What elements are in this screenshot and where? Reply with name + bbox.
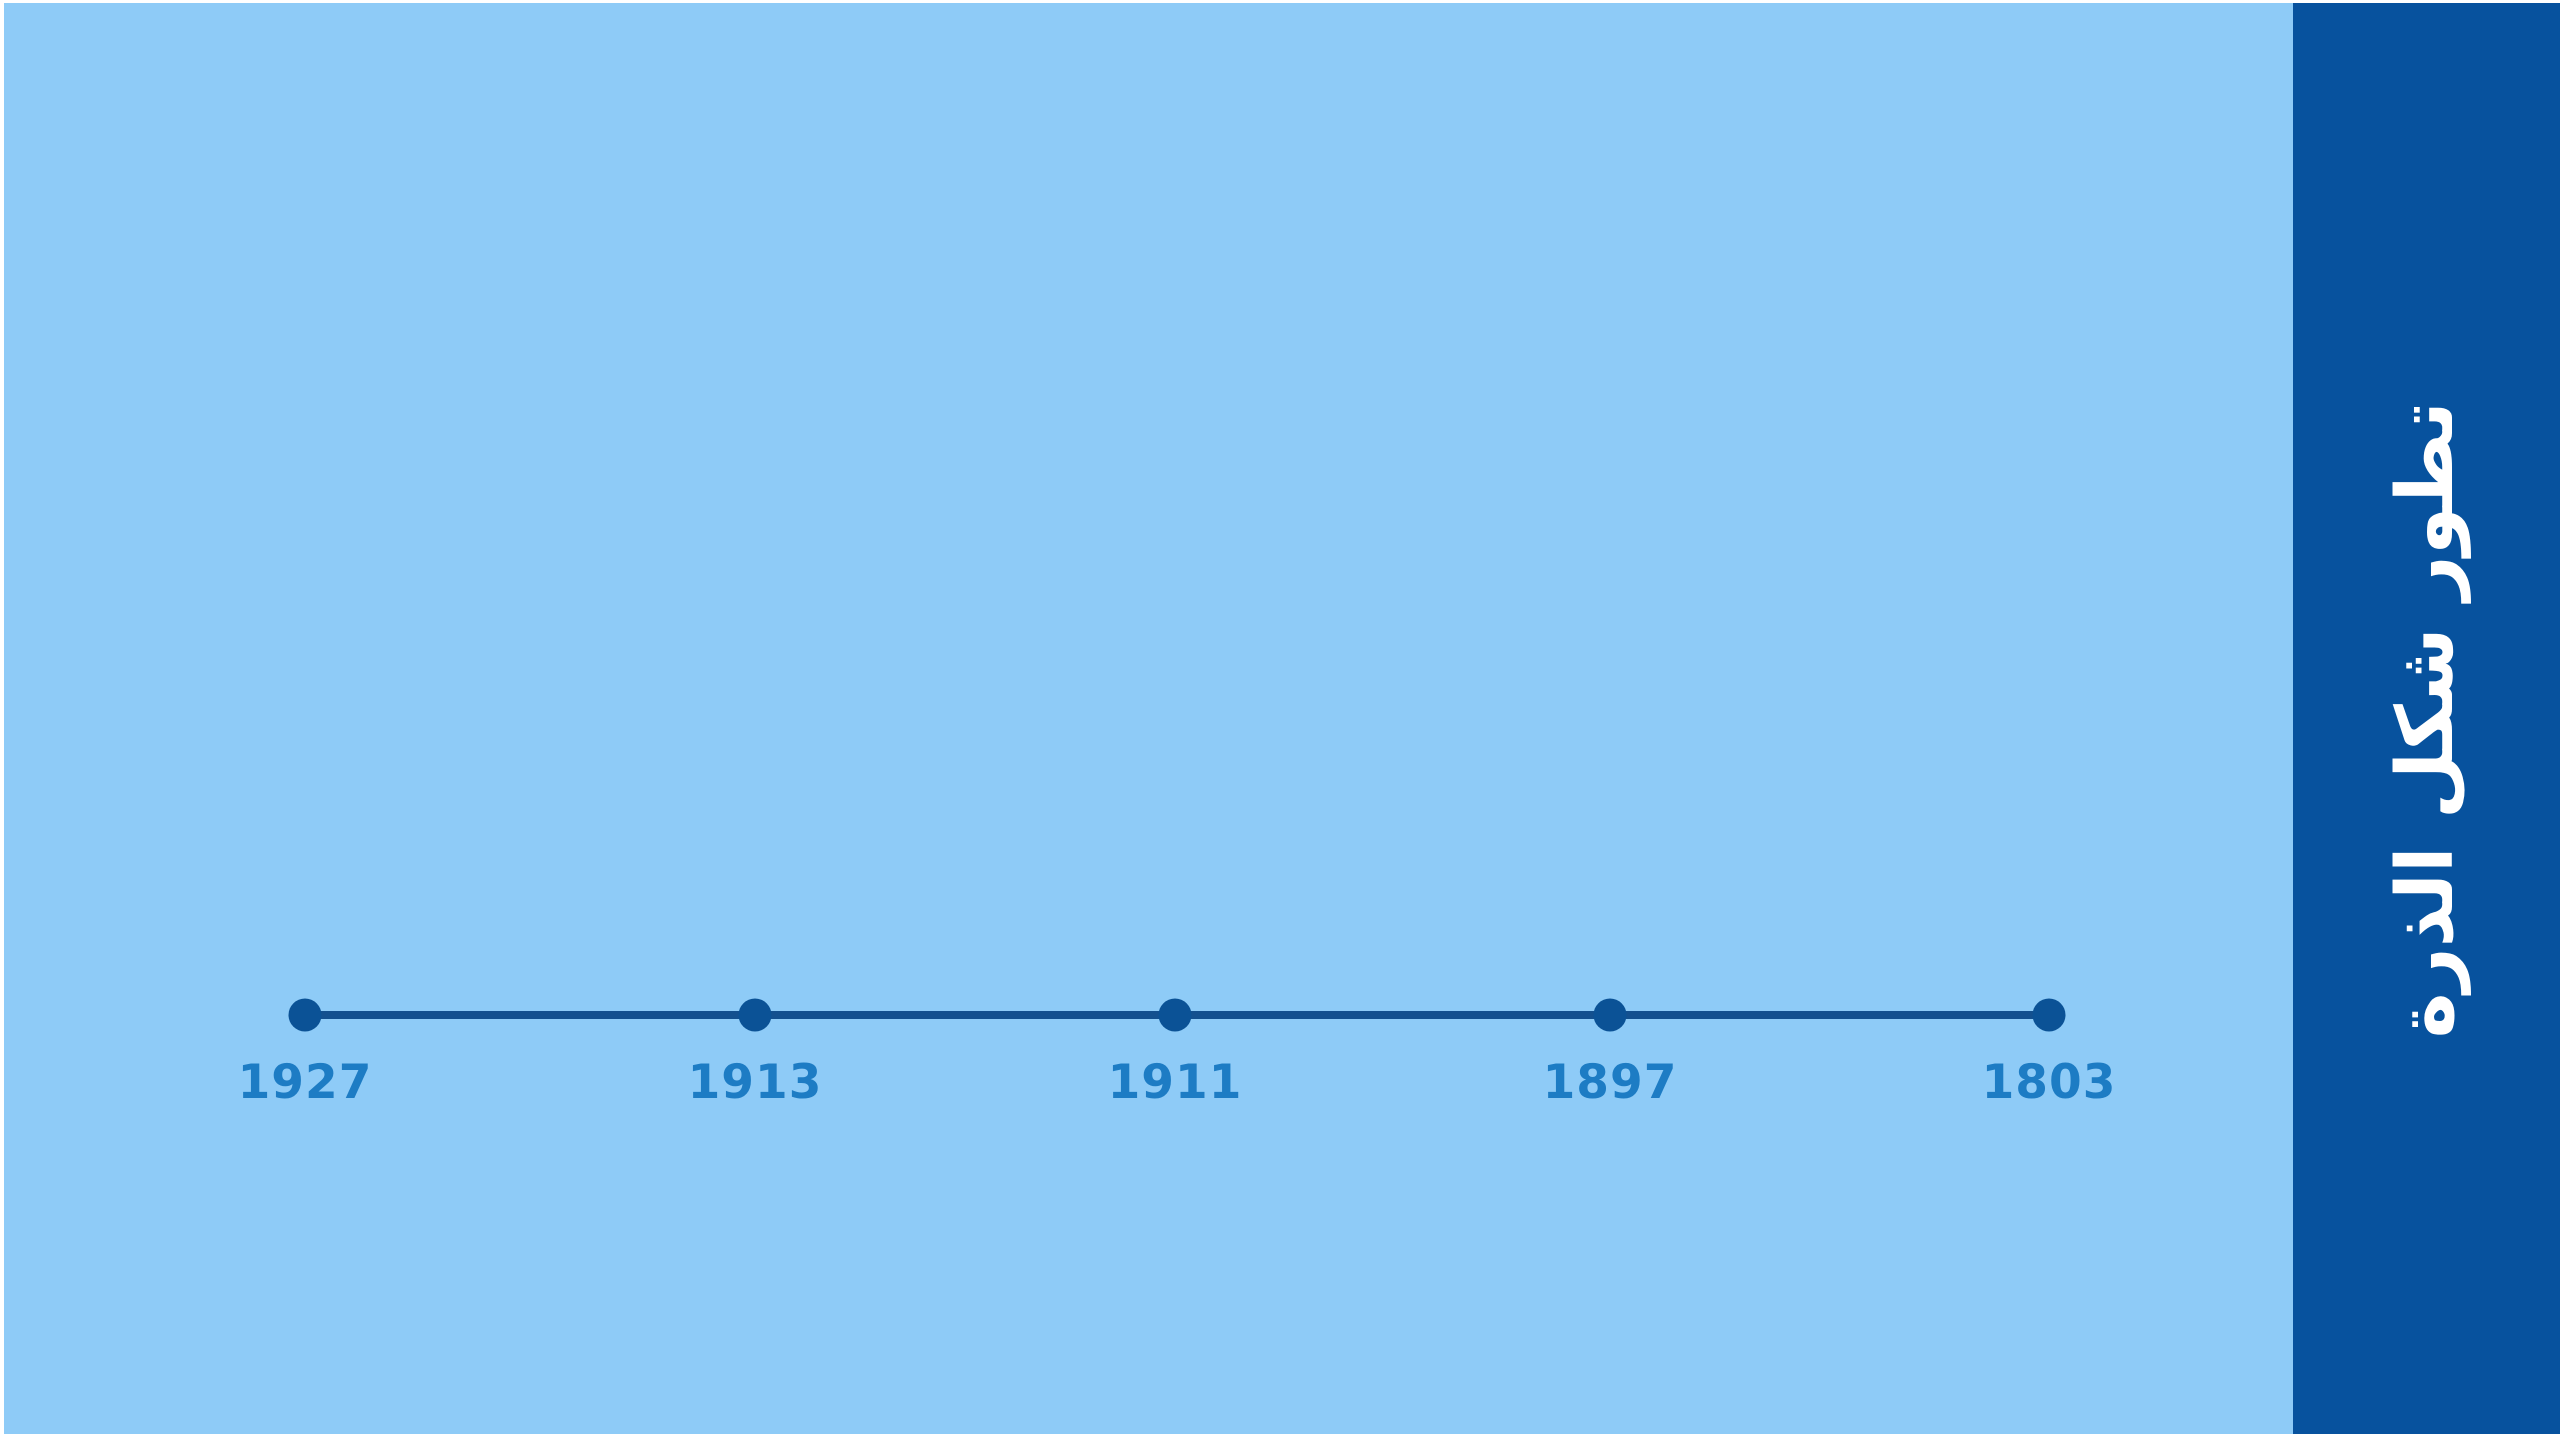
side-title-panel: تطور شكل الذرة: [2293, 0, 2560, 1440]
timeline-year-1927: 1927: [238, 1055, 373, 1110]
timeline-dot-1927[interactable]: [289, 999, 322, 1032]
timeline-dot-1803[interactable]: [2033, 999, 2066, 1032]
timeline-year-1803: 1803: [1982, 1055, 2117, 1110]
timeline-year-1897: 1897: [1543, 1055, 1678, 1110]
infographic-title: تطور شكل الذرة: [2380, 401, 2474, 1038]
timeline-dot-1897[interactable]: [1594, 999, 1627, 1032]
canvas-border-left: [0, 0, 4, 1440]
timeline-year-1911: 1911: [1108, 1055, 1243, 1110]
infographic-canvas: نموذج نظرية الكم شرودنغر: [0, 0, 2560, 1440]
timeline-dot-1913[interactable]: [739, 999, 772, 1032]
canvas-border-top: [0, 0, 2560, 3]
timeline-dot-1911[interactable]: [1159, 999, 1192, 1032]
timeline-year-1913: 1913: [688, 1055, 823, 1110]
canvas-border-bottom: [0, 1434, 2560, 1440]
